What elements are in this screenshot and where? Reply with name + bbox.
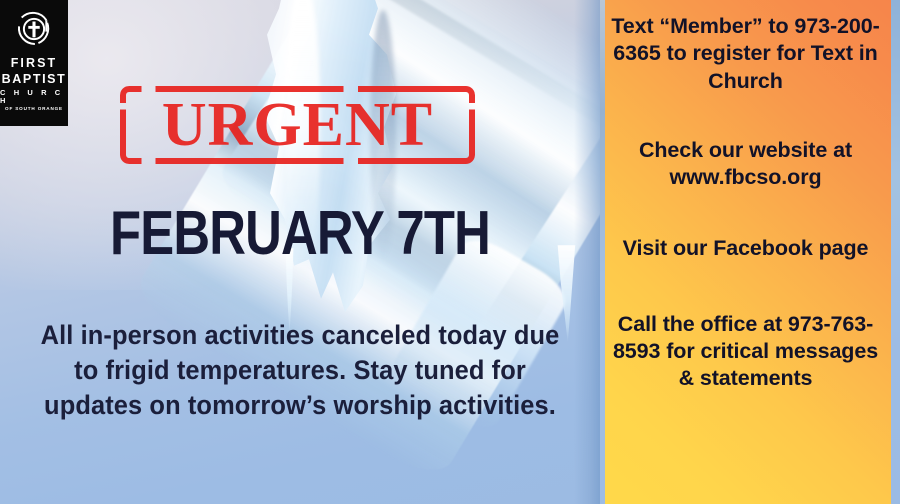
contact-block-text-in-church: Text “Member” to 973-200-6365 to registe…: [606, 13, 885, 95]
contact-block-website: Check our website at www.fbcso.org: [606, 137, 885, 192]
announcement-body: All in-person activities canceled today …: [29, 318, 570, 424]
logo-line-baptist: BAPTIST: [2, 73, 67, 86]
urgent-stamp: URGENT: [120, 86, 475, 164]
panel-right-edge: [891, 0, 900, 504]
contact-block-facebook: Visit our Facebook page: [606, 235, 885, 262]
urgent-stamp-label: URGENT: [120, 94, 475, 156]
panel-left-edge: [600, 0, 605, 504]
contact-block-office-phone: Call the office at 973-763-8593 for crit…: [606, 311, 885, 393]
logo-line-first: FIRST: [11, 57, 58, 70]
church-logo: FIRST BAPTIST C H U R C H OF SOUTH ORANG…: [0, 0, 68, 126]
cross-in-circle-icon: [12, 7, 56, 51]
photo-right-edge-shade: [574, 0, 600, 504]
logo-line-church: C H U R C H: [0, 89, 68, 104]
logo-line-location: OF SOUTH ORANGE: [5, 107, 63, 112]
announcement-date: FEBRUARY 7TH: [54, 203, 546, 265]
contact-panel: Text “Member” to 973-200-6365 to registe…: [600, 0, 891, 504]
announcement-poster: FIRST BAPTIST C H U R C H OF SOUTH ORANG…: [0, 0, 900, 504]
